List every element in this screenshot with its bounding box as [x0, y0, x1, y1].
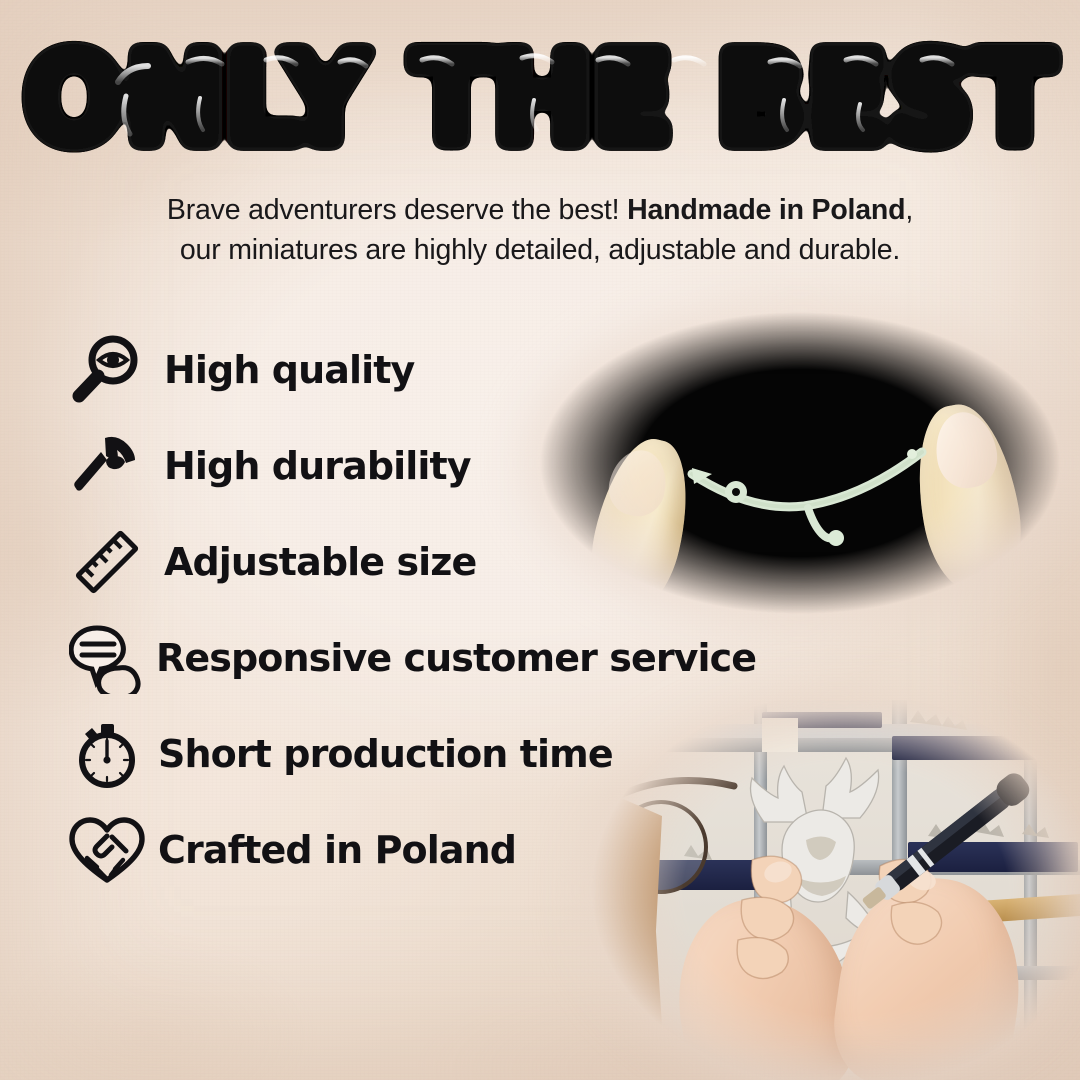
- feature-label: Crafted in Poland: [158, 828, 516, 872]
- subtitle-tail: ,: [905, 194, 913, 226]
- feature-list: High quality High durability: [64, 322, 824, 898]
- feature-item-production-time[interactable]: Short production time: [64, 706, 824, 802]
- headline-text: ONLY THE BEST: [24, 26, 1056, 172]
- subtitle-line-1: Brave adventurers deserve the best! Hand…: [60, 190, 1020, 230]
- headline-art: ONLY THE BEST: [70, 38, 1010, 170]
- subtitle-line-2: our miniatures are highly detailed, adju…: [60, 230, 1020, 270]
- feature-item-crafted-in-poland[interactable]: Crafted in Poland: [64, 802, 824, 898]
- subtitle-highlight: Handmade in Poland: [627, 194, 905, 226]
- feature-item-adjustable-size[interactable]: Adjustable size: [64, 514, 824, 610]
- feature-item-high-quality[interactable]: High quality: [64, 322, 824, 418]
- chat-bubbles-icon: [64, 615, 150, 701]
- subtitle: Brave adventurers deserve the best! Hand…: [60, 190, 1020, 270]
- feature-label: Short production time: [158, 732, 613, 776]
- hammer-icon: [64, 423, 150, 509]
- page-title: ONLY THE BEST: [0, 38, 1080, 170]
- feature-item-high-durability[interactable]: High durability: [64, 418, 824, 514]
- magnifier-eye-icon: [64, 327, 150, 413]
- subtitle-lead: Brave adventurers deserve the best!: [167, 194, 627, 226]
- feature-label: Responsive customer service: [156, 636, 756, 680]
- heart-handshake-icon: [64, 807, 150, 893]
- poster-canvas: ONLY THE BEST: [0, 0, 1080, 1080]
- feature-item-customer-service[interactable]: Responsive customer service: [64, 610, 824, 706]
- feature-label: Adjustable size: [164, 540, 476, 584]
- feature-label: High durability: [164, 444, 471, 488]
- feature-label: High quality: [164, 348, 414, 392]
- stopwatch-icon: [64, 711, 150, 797]
- ruler-icon: [64, 519, 150, 605]
